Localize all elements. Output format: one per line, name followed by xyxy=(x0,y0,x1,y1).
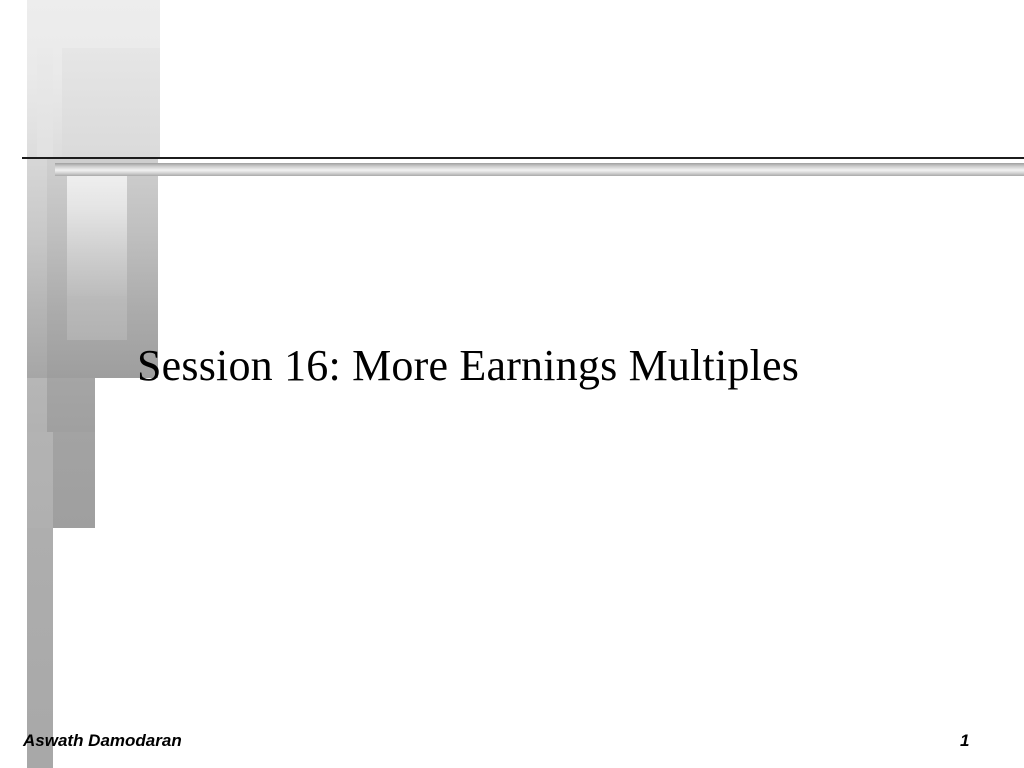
slide-title: Session 16: More Earnings Multiples xyxy=(137,340,937,392)
decor-inner-highlight-rect-lower xyxy=(67,296,127,340)
decor-step-two xyxy=(47,378,95,432)
slide-canvas: Session 16: More Earnings Multiples Aswa… xyxy=(0,0,1024,768)
decor-inner-highlight-rect xyxy=(67,172,127,296)
decor-step-three-left xyxy=(27,432,53,528)
decor-top-seam-right xyxy=(62,48,160,158)
footer-page-number: 1 xyxy=(960,731,1000,751)
decor-step-two-left xyxy=(27,378,47,432)
decor-step-three xyxy=(53,432,95,528)
decor-horizontal-rule xyxy=(22,157,1024,159)
decor-horizontal-gradient-bar xyxy=(55,163,1024,176)
decor-top-seam-left xyxy=(37,48,53,158)
footer-author: Aswath Damodaran xyxy=(23,731,182,751)
decor-top-light-band xyxy=(27,0,160,158)
